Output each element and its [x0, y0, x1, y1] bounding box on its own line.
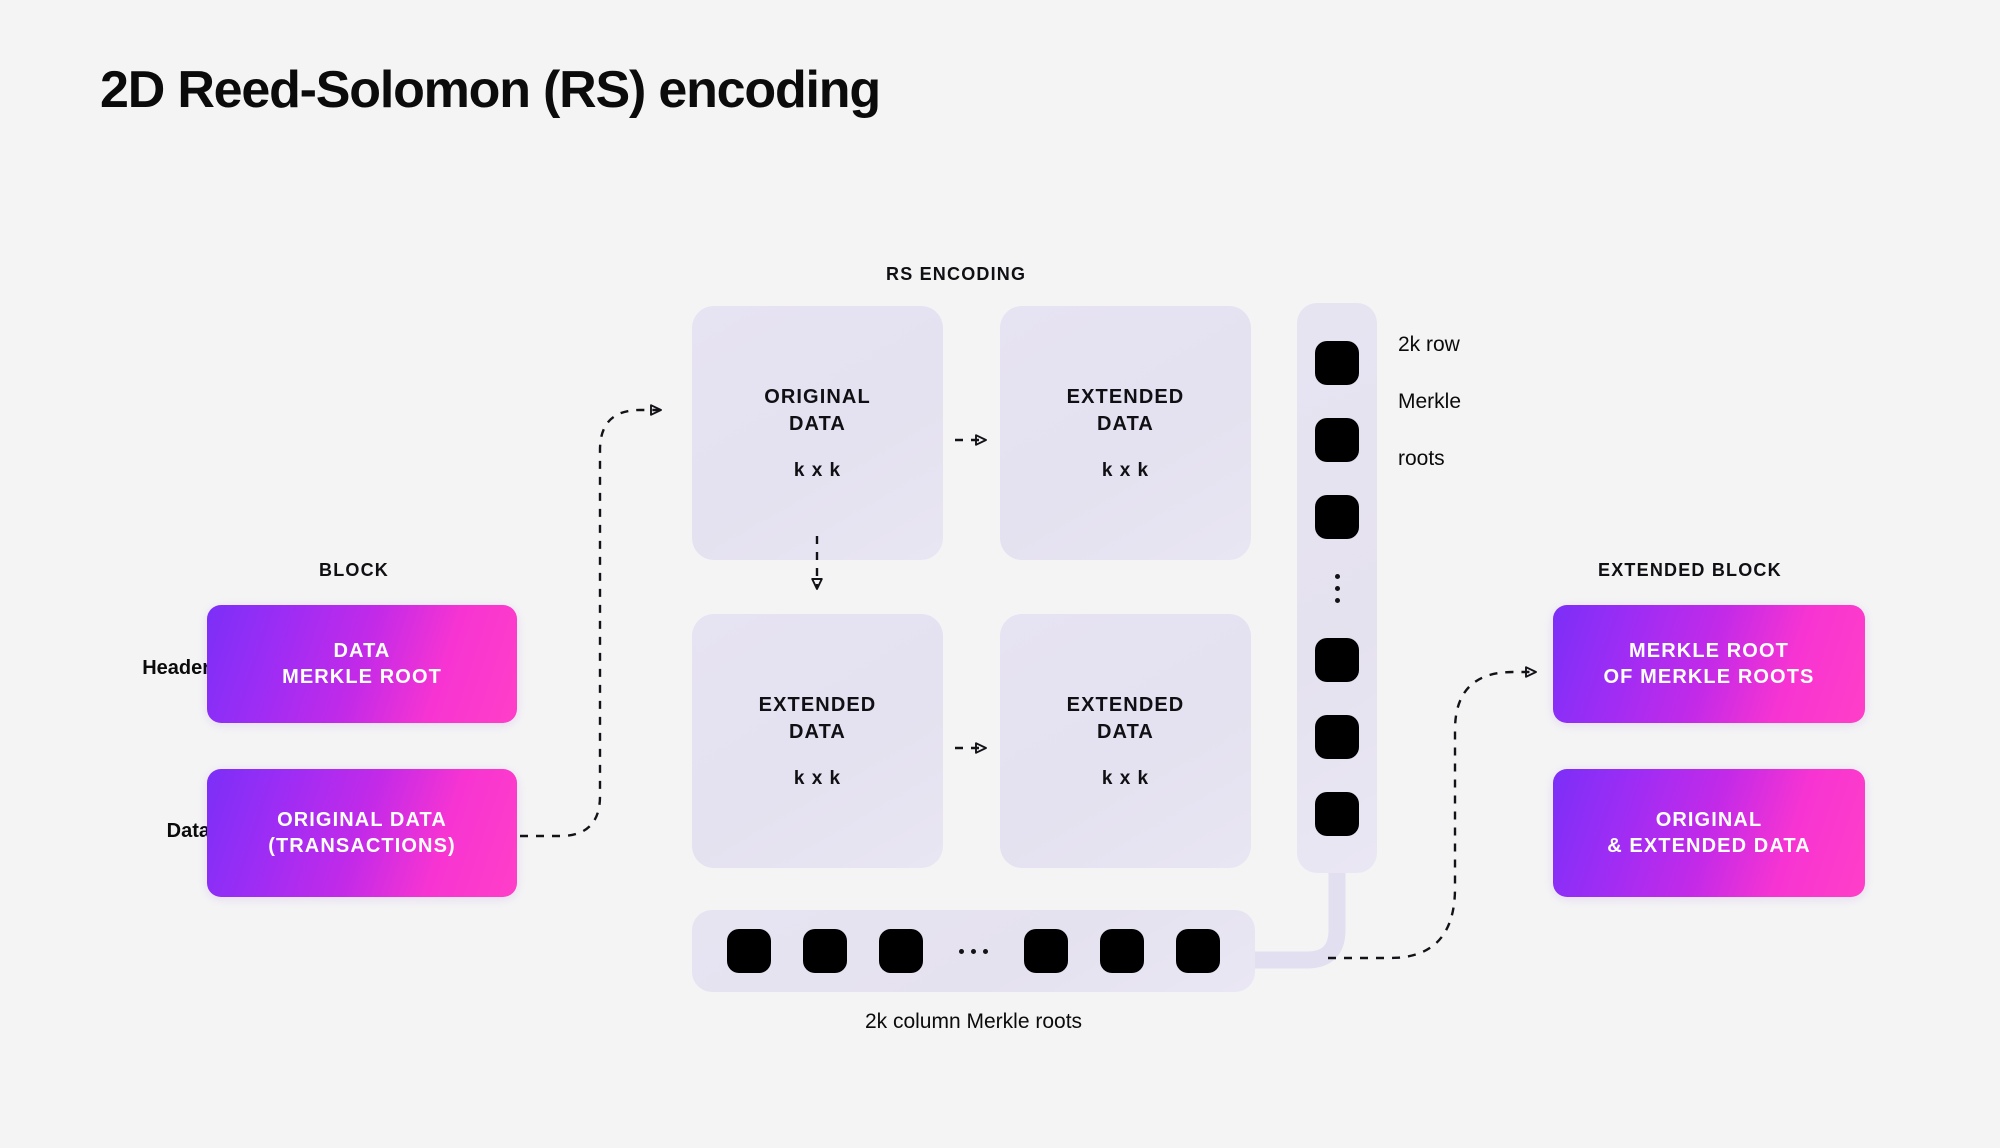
row-merkle-root-1[interactable] [1315, 341, 1359, 385]
card-title-line1: EXTENDED [1067, 692, 1185, 719]
row-merkle-root-4[interactable] [1315, 638, 1359, 682]
card-title-line2: DATA [759, 719, 877, 746]
row-label-line1: 2k row [1398, 331, 1528, 359]
extended-merkle-text: MERKLE ROOT OF MERKLE ROOTS [1604, 638, 1815, 691]
row-merkle-root-2[interactable] [1315, 418, 1359, 462]
block-data-card[interactable]: ORIGINAL DATA (TRANSACTIONS) [207, 769, 517, 897]
block-header-line1: DATA [282, 638, 442, 664]
card-extended-data-bottom-left[interactable]: EXTENDED DATA k x k [692, 614, 943, 868]
rs-encoding-caption: RS ENCODING [886, 264, 1026, 285]
card-extended-data-top-right[interactable]: EXTENDED DATA k x k [1000, 306, 1251, 560]
block-caption: BLOCK [319, 560, 389, 581]
page-title: 2D Reed-Solomon (RS) encoding [100, 60, 880, 120]
column-merkle-root-2[interactable] [803, 929, 847, 973]
block-header-text: DATA MERKLE ROOT [282, 638, 442, 691]
column-merkle-root-5[interactable] [1100, 929, 1144, 973]
header-row-label: Header [98, 657, 210, 680]
column-merkle-root-1[interactable] [727, 929, 771, 973]
row-merkle-roots-ellipsis [1335, 574, 1340, 603]
card-extended-br-title: EXTENDED DATA [1067, 692, 1185, 746]
column-merkle-roots-ellipsis [959, 949, 988, 954]
card-extended-br-sub: k x k [1102, 768, 1149, 790]
block-data-text: ORIGINAL DATA (TRANSACTIONS) [268, 807, 456, 860]
extended-merkle-line1: MERKLE ROOT [1604, 638, 1815, 664]
row-label-line2: Merkle [1398, 388, 1528, 416]
card-title-line2: DATA [1067, 719, 1185, 746]
block-header-line2: MERKLE ROOT [282, 664, 442, 690]
column-merkle-root-3[interactable] [879, 929, 923, 973]
row-merkle-root-5[interactable] [1315, 715, 1359, 759]
column-merkle-roots-label: 2k column Merkle roots [692, 1008, 1255, 1036]
row-merkle-roots-tray[interactable] [1297, 303, 1377, 873]
card-title-line1: EXTENDED [1067, 384, 1185, 411]
block-data-line1: ORIGINAL DATA [268, 807, 456, 833]
card-extended-tr-title: EXTENDED DATA [1067, 384, 1185, 438]
column-merkle-root-4[interactable] [1024, 929, 1068, 973]
card-title-line1: ORIGINAL [764, 384, 871, 411]
row-merkle-root-6[interactable] [1315, 792, 1359, 836]
card-title-line2: DATA [764, 411, 871, 438]
row-label-line3: roots [1398, 445, 1528, 473]
diagram-canvas: 2D Reed-Solomon (RS) encoding BLOCK Head… [0, 0, 2000, 1148]
extended-data-line2: & EXTENDED DATA [1607, 833, 1811, 859]
block-header-card[interactable]: DATA MERKLE ROOT [207, 605, 517, 723]
card-title-line2: DATA [1067, 411, 1185, 438]
arrow-data-to-original [520, 410, 660, 836]
extended-block-merkle-card[interactable]: MERKLE ROOT OF MERKLE ROOTS [1553, 605, 1865, 723]
extended-block-caption: EXTENDED BLOCK [1598, 560, 1782, 581]
tray-elbow-connector [1255, 860, 1337, 960]
card-original-data-sub: k x k [794, 460, 841, 482]
extended-block-data-card[interactable]: ORIGINAL & EXTENDED DATA [1553, 769, 1865, 897]
extended-merkle-line2: OF MERKLE ROOTS [1604, 664, 1815, 690]
row-merkle-roots-label: 2k row Merkle roots [1398, 303, 1528, 501]
block-data-line2: (TRANSACTIONS) [268, 833, 456, 859]
row-merkle-root-3[interactable] [1315, 495, 1359, 539]
card-extended-bl-title: EXTENDED DATA [759, 692, 877, 746]
card-original-data-title: ORIGINAL DATA [764, 384, 871, 438]
extended-data-line1: ORIGINAL [1607, 807, 1811, 833]
card-extended-bl-sub: k x k [794, 768, 841, 790]
card-original-data[interactable]: ORIGINAL DATA k x k [692, 306, 943, 560]
extended-data-text: ORIGINAL & EXTENDED DATA [1607, 807, 1811, 860]
column-merkle-root-6[interactable] [1176, 929, 1220, 973]
card-extended-data-bottom-right[interactable]: EXTENDED DATA k x k [1000, 614, 1251, 868]
data-row-label: Data [98, 820, 210, 843]
column-merkle-roots-tray[interactable] [692, 910, 1255, 992]
card-title-line1: EXTENDED [759, 692, 877, 719]
card-extended-tr-sub: k x k [1102, 460, 1149, 482]
